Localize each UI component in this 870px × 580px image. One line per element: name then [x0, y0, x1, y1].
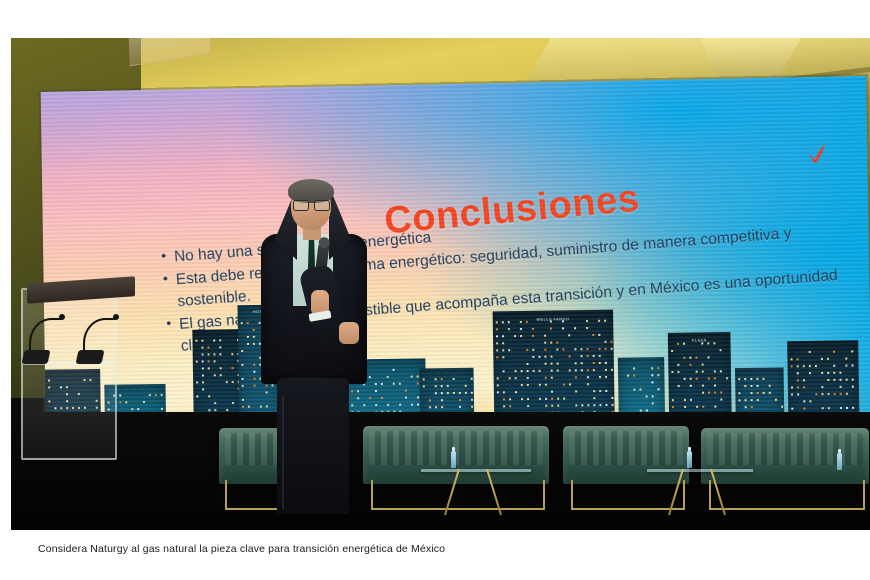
skyline-window — [815, 393, 817, 395]
water-bottle — [451, 451, 456, 468]
skyline-window — [241, 322, 243, 324]
skyline-window — [521, 370, 523, 372]
skyline-window — [527, 370, 529, 372]
skyline-window — [751, 399, 753, 401]
skyline-window — [803, 407, 805, 409]
skyline-window — [447, 385, 449, 387]
skyline-window — [502, 335, 504, 337]
skyline-window — [497, 377, 499, 379]
skyline-window — [423, 378, 425, 380]
skyline-window — [551, 391, 553, 393]
skyline-window — [509, 377, 511, 379]
skyline-window — [750, 378, 752, 380]
skyline-window — [551, 370, 553, 372]
skyline-window — [545, 363, 547, 365]
skyline-window — [757, 392, 759, 394]
skyline-window — [569, 383, 571, 385]
skyline-window — [453, 378, 455, 380]
skyline-window — [852, 386, 854, 388]
skyline-window — [232, 367, 234, 369]
skyline-window — [196, 381, 198, 383]
skyline-window — [769, 392, 771, 394]
skyline-window — [851, 364, 853, 366]
skyline-window — [219, 346, 221, 348]
skyline-window — [651, 367, 653, 369]
skyline-window — [447, 392, 449, 394]
skyline-window — [781, 406, 783, 408]
skyline-window — [633, 375, 635, 377]
skyline-window — [532, 328, 534, 330]
skyline-window — [532, 356, 534, 358]
projection-screen: Conclusiones No hay una sola transición … — [41, 76, 870, 469]
skyline-window — [714, 392, 716, 394]
skyline-window — [411, 376, 413, 378]
skyline-window — [763, 392, 765, 394]
skyline-window — [550, 328, 552, 330]
skyline-window — [405, 390, 407, 392]
skyline-window — [689, 357, 691, 359]
skyline-window — [575, 376, 577, 378]
skyline-window — [744, 385, 746, 387]
skyline-window — [417, 396, 419, 398]
skyline-window — [605, 404, 607, 406]
skyline-window — [196, 361, 198, 363]
skyline-window — [611, 397, 613, 399]
skyline-window — [803, 379, 805, 381]
skyline-window — [599, 390, 601, 392]
skyline-window — [822, 407, 824, 409]
skyline-window — [593, 355, 595, 357]
skyline-window — [143, 401, 145, 403]
skyline-window — [821, 393, 823, 395]
skyline-window — [657, 367, 659, 369]
skyline-window — [219, 353, 221, 355]
skyline-window — [471, 392, 473, 394]
skyline-window — [119, 394, 121, 396]
skyline-window — [545, 377, 547, 379]
skyline-window — [562, 320, 564, 322]
skyline-window — [744, 378, 746, 380]
skyline-window — [539, 370, 541, 372]
skyline-window — [242, 406, 244, 408]
skyline-window — [690, 378, 692, 380]
stage-sofa-legs — [571, 480, 685, 510]
skyline-window — [441, 392, 443, 394]
skyline-window — [137, 408, 139, 410]
skyline-window — [791, 408, 793, 410]
skyline-window — [833, 365, 835, 367]
water-bottle — [837, 453, 842, 470]
skyline-window — [828, 393, 830, 395]
skyline-window — [497, 384, 499, 386]
skyline-window — [707, 342, 709, 344]
skyline-window — [545, 384, 547, 386]
skyline-window — [605, 362, 607, 364]
skyline-window — [202, 381, 204, 383]
skyline-window — [417, 403, 419, 405]
skyline-window — [678, 385, 680, 387]
skyline-window — [557, 370, 559, 372]
skyline-window — [471, 406, 473, 408]
skyline-window — [545, 398, 547, 400]
skyline-window — [684, 378, 686, 380]
skyline-window — [672, 406, 674, 408]
skyline-window — [827, 358, 829, 360]
skyline-window — [435, 385, 437, 387]
speaker-trousers — [277, 378, 349, 514]
skyline-window — [119, 401, 121, 403]
skyline-window — [441, 378, 443, 380]
skyline-window — [756, 385, 758, 387]
skyline-window — [502, 342, 504, 344]
skyline-window — [232, 402, 234, 404]
skyline-window — [790, 358, 792, 360]
skyline-window — [226, 381, 228, 383]
skyline-window — [417, 375, 419, 377]
skyline-window — [696, 406, 698, 408]
skyline-window — [232, 381, 234, 383]
skyline-window — [593, 362, 595, 364]
skyline-window — [738, 399, 740, 401]
skyline-window — [214, 360, 216, 362]
skyline-window — [568, 334, 570, 336]
microphone-base — [76, 350, 105, 364]
skyline-window — [586, 327, 588, 329]
skyline-window — [231, 353, 233, 355]
skyline-window — [569, 355, 571, 357]
skyline-building-label: WELLS FARGO — [493, 316, 613, 323]
skyline-window — [521, 398, 523, 400]
skyline-window — [551, 377, 553, 379]
skyline-window — [587, 355, 589, 357]
skyline-window — [815, 365, 817, 367]
skyline-window — [526, 321, 528, 323]
stage-side-table — [647, 469, 753, 472]
skyline-window — [515, 370, 517, 372]
skyline-window — [757, 399, 759, 401]
skyline-window — [708, 378, 710, 380]
skyline-window — [496, 321, 498, 323]
skyline-window — [521, 384, 523, 386]
skyline-window — [702, 371, 704, 373]
skyline-window — [393, 383, 395, 385]
skyline-window — [762, 378, 764, 380]
skyline-window — [821, 372, 823, 374]
naturgy-flame-logo-icon — [802, 140, 830, 166]
skyline-window — [503, 370, 505, 372]
skyline-window — [797, 379, 799, 381]
skyline-window — [605, 390, 607, 392]
skyline-window — [581, 362, 583, 364]
skyline-window — [569, 369, 571, 371]
skyline-window — [852, 379, 854, 381]
skyline-window — [821, 358, 823, 360]
skyline-window — [797, 372, 799, 374]
skyline-window — [714, 377, 716, 379]
skyline-window — [834, 393, 836, 395]
skyline-window — [242, 399, 244, 401]
skyline-window — [840, 386, 842, 388]
skyline-window — [702, 406, 704, 408]
skyline-window — [149, 394, 151, 396]
skyline-window — [852, 407, 854, 409]
skyline-window — [846, 407, 848, 409]
skyline-window — [840, 407, 842, 409]
skyline-window — [544, 356, 546, 358]
skyline-window — [657, 374, 659, 376]
skyline-window — [720, 391, 722, 393]
skyline-window — [581, 369, 583, 371]
stage-sofa-legs — [371, 480, 545, 510]
skyline-window — [627, 375, 629, 377]
skyline-window — [471, 378, 473, 380]
skyline-window — [550, 356, 552, 358]
skyline-window — [775, 399, 777, 401]
skyline-window — [809, 365, 811, 367]
skyline-window — [202, 367, 204, 369]
skyline-window — [550, 342, 552, 344]
skyline-window — [125, 401, 127, 403]
skyline-window — [840, 393, 842, 395]
skyline-window — [208, 360, 210, 362]
skyline-window — [677, 371, 679, 373]
skyline-window — [586, 320, 588, 322]
skyline-window — [429, 406, 431, 408]
skyline-window — [791, 394, 793, 396]
skyline-window — [690, 399, 692, 401]
skyline-window — [520, 335, 522, 337]
skyline-window — [827, 372, 829, 374]
skyline-window — [751, 406, 753, 408]
skyline-window — [851, 350, 853, 352]
skyline-window — [226, 409, 228, 411]
skyline-window — [497, 391, 499, 393]
skyline-window — [696, 371, 698, 373]
skyline-window — [544, 349, 546, 351]
skyline-window — [562, 327, 564, 329]
skyline-window — [503, 398, 505, 400]
skyline-window — [713, 342, 715, 344]
skyline-window — [604, 320, 606, 322]
skyline-window — [708, 392, 710, 394]
skyline-window — [702, 364, 704, 366]
skyline-window — [803, 365, 805, 367]
skyline-window — [208, 353, 210, 355]
skyline-window — [544, 335, 546, 337]
skyline-window — [515, 391, 517, 393]
skyline-window — [714, 406, 716, 408]
skyline-window — [557, 363, 559, 365]
skyline-window — [241, 350, 243, 352]
skyline-window — [797, 365, 799, 367]
skyline-window — [750, 385, 752, 387]
skyline-window — [833, 379, 835, 381]
skyline-window — [803, 386, 805, 388]
skyline-window — [593, 404, 595, 406]
skyline-window — [544, 342, 546, 344]
skyline-window — [399, 404, 401, 406]
skyline-window — [574, 327, 576, 329]
water-bottle — [687, 451, 692, 468]
skyline-window — [575, 404, 577, 406]
skyline-window — [411, 404, 413, 406]
skyline-window — [846, 393, 848, 395]
skyline-window — [503, 391, 505, 393]
skyline-window — [714, 370, 716, 372]
skyline-window — [381, 397, 383, 399]
skyline-window — [720, 349, 722, 351]
skyline-window — [502, 321, 504, 323]
skyline-window — [393, 369, 395, 371]
skyline-window — [677, 364, 679, 366]
skyline-window — [214, 402, 216, 404]
skyline-window — [574, 348, 576, 350]
skyline-window — [593, 397, 595, 399]
photo-caption: Considera Naturgy al gas natural la piez… — [38, 543, 445, 555]
skyline-window — [587, 404, 589, 406]
skyline-window — [651, 374, 653, 376]
speaker-person — [247, 182, 379, 512]
skyline-window — [587, 383, 589, 385]
skyline-window — [202, 354, 204, 356]
skyline-window — [539, 384, 541, 386]
skyline-window — [533, 370, 535, 372]
speaker-glasses — [293, 200, 330, 209]
skyline-window — [195, 340, 197, 342]
skyline-window — [551, 398, 553, 400]
skyline-window — [738, 378, 740, 380]
skyline-window — [509, 398, 511, 400]
skyline-window — [509, 405, 511, 407]
skyline-window — [598, 334, 600, 336]
skyline-window — [465, 385, 467, 387]
skyline-window — [592, 334, 594, 336]
skyline-window — [690, 385, 692, 387]
skyline-window — [695, 357, 697, 359]
skyline-window — [459, 406, 461, 408]
skyline-window — [435, 392, 437, 394]
skyline-window — [503, 405, 505, 407]
skyline-window — [769, 385, 771, 387]
speaker-leg-seam — [282, 396, 284, 510]
skyline-window — [797, 393, 799, 395]
skyline-window — [441, 406, 443, 408]
skyline-window — [652, 395, 654, 397]
skyline-window — [611, 348, 613, 350]
skyline-window — [611, 404, 613, 406]
skyline-window — [220, 374, 222, 376]
skyline-window — [599, 404, 601, 406]
skyline-window — [809, 372, 811, 374]
skyline-window — [202, 388, 204, 390]
skyline-window — [459, 399, 461, 401]
skyline-window — [527, 398, 529, 400]
skyline-window — [551, 405, 553, 407]
skyline-window — [502, 356, 504, 358]
skyline-window — [155, 394, 157, 396]
skyline-window — [527, 377, 529, 379]
skyline-window — [791, 386, 793, 388]
skyline-window — [532, 349, 534, 351]
skyline-window — [526, 363, 528, 365]
skyline-window — [791, 365, 793, 367]
skyline-window — [580, 348, 582, 350]
skyline-window — [387, 376, 389, 378]
skyline-window — [208, 409, 210, 411]
skyline-window — [599, 362, 601, 364]
skyline-window — [581, 404, 583, 406]
skyline-window — [587, 376, 589, 378]
skyline-window — [751, 392, 753, 394]
skyline-window — [515, 377, 517, 379]
skyline-window — [551, 363, 553, 365]
skyline-window — [671, 371, 673, 373]
skyline-window — [689, 364, 691, 366]
skyline-window — [683, 343, 685, 345]
skyline-window — [701, 342, 703, 344]
skyline-window — [809, 400, 811, 402]
stage-sofa-legs — [709, 480, 865, 510]
skyline-window — [611, 369, 613, 371]
skyline-window — [465, 392, 467, 394]
skyline-window — [196, 395, 198, 397]
skyline-window — [527, 384, 529, 386]
skyline-window — [520, 328, 522, 330]
skyline-window — [652, 402, 654, 404]
skyline-window — [550, 321, 552, 323]
skyline-window — [702, 392, 704, 394]
skyline-window — [575, 369, 577, 371]
skyline-window — [502, 349, 504, 351]
skyline-window — [539, 398, 541, 400]
skyline-window — [658, 388, 660, 390]
skyline-window — [845, 365, 847, 367]
stage-sofa — [563, 426, 689, 484]
skyline-window — [846, 379, 848, 381]
skyline-window — [726, 377, 728, 379]
skyline-window — [845, 358, 847, 360]
skyline-window — [563, 384, 565, 386]
skyline-window — [599, 376, 601, 378]
skyline-window — [131, 408, 133, 410]
skyline-window — [387, 404, 389, 406]
skyline-window — [756, 378, 758, 380]
skyline-window — [833, 372, 835, 374]
skyline-window — [593, 390, 595, 392]
microphone-base — [22, 350, 51, 364]
skyline-window — [745, 406, 747, 408]
skyline-window — [557, 398, 559, 400]
skyline-window — [651, 381, 653, 383]
skyline-window — [575, 390, 577, 392]
skyline-window — [526, 349, 528, 351]
skyline-window — [527, 405, 529, 407]
skyline-window — [201, 347, 203, 349]
skyline-window — [646, 395, 648, 397]
skyline-window — [599, 348, 601, 350]
skyline-window — [581, 355, 583, 357]
skyline-window — [702, 385, 704, 387]
skyline-window — [598, 320, 600, 322]
skyline-window — [677, 343, 679, 345]
skyline-window — [202, 361, 204, 363]
skyline-window — [399, 383, 401, 385]
skyline-window — [821, 386, 823, 388]
skyline-window — [556, 349, 558, 351]
skyline-window — [214, 409, 216, 411]
stage-sofa — [701, 428, 869, 484]
skyline-window — [828, 407, 830, 409]
